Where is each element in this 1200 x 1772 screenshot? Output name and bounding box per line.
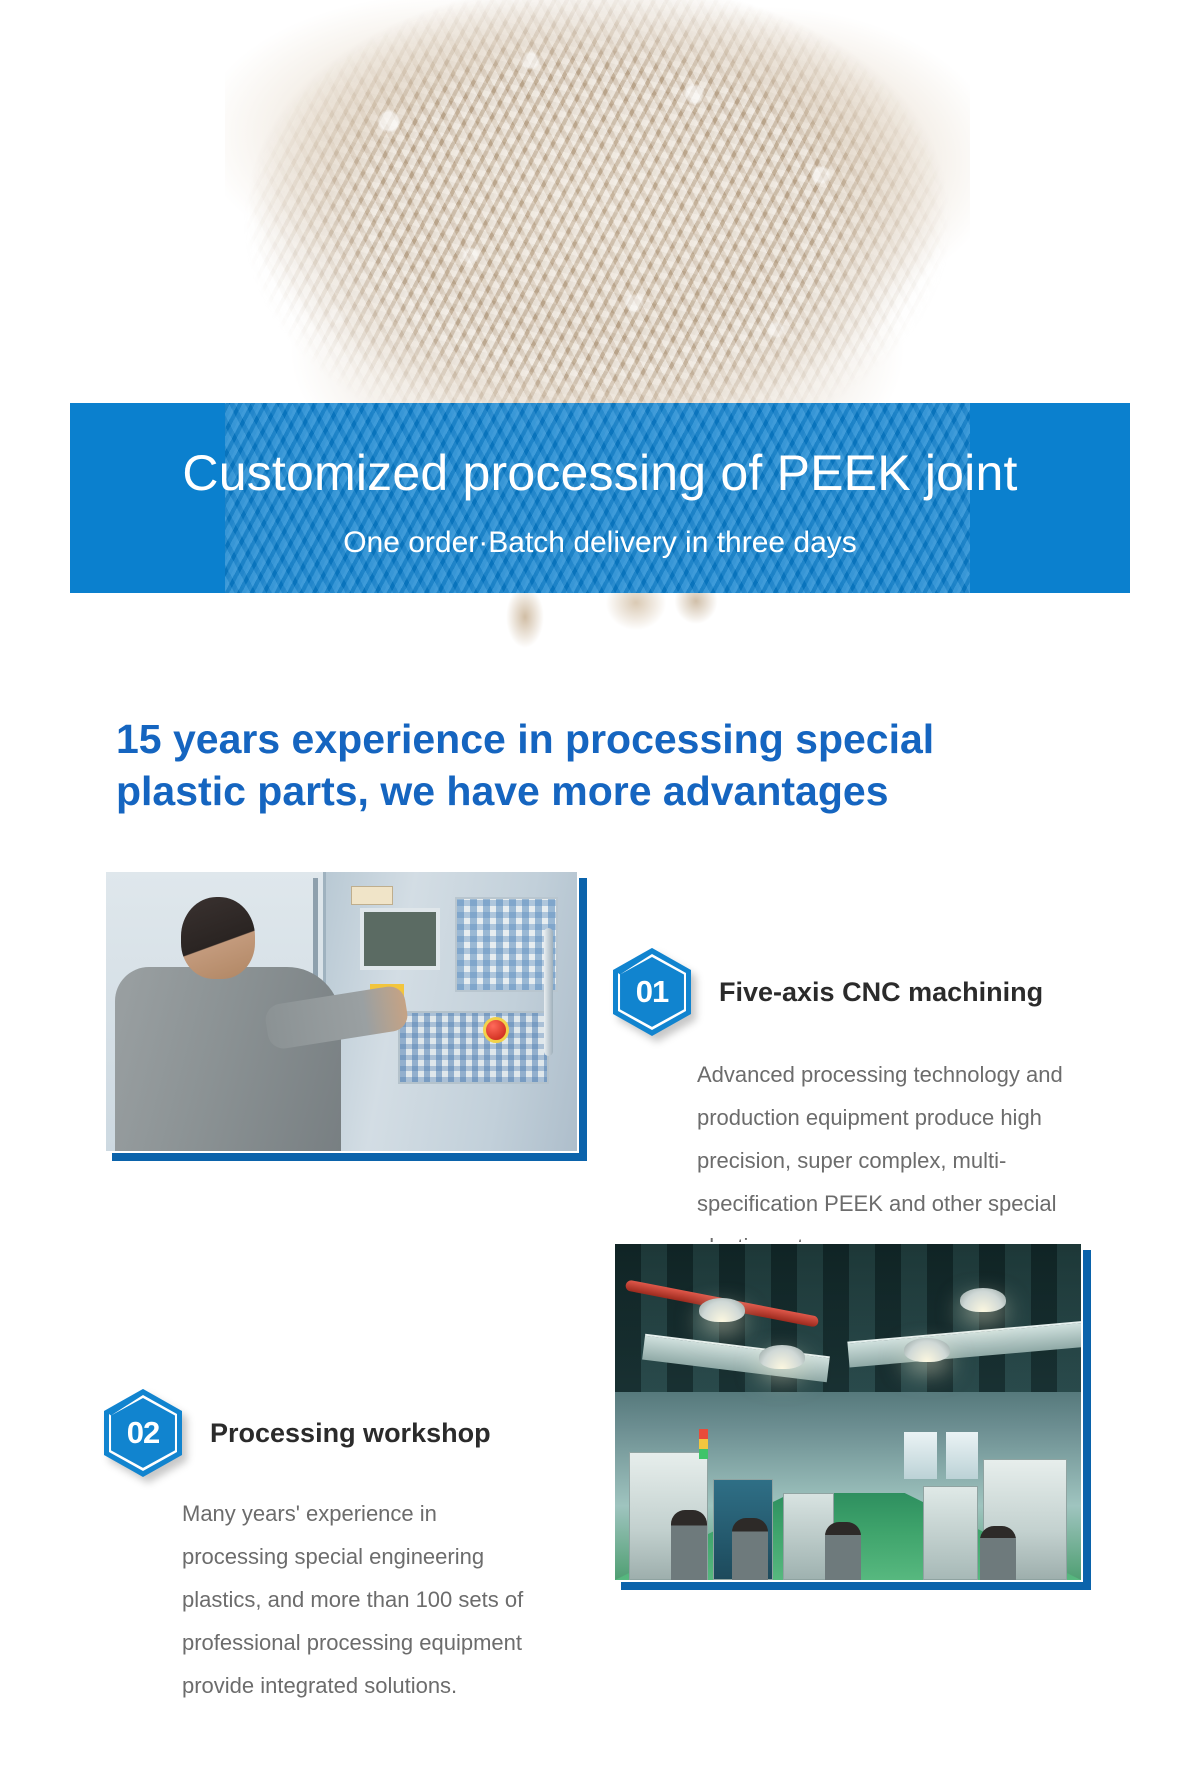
pendant-lamp <box>904 1338 950 1362</box>
section-heading: 15 years experience in processing specia… <box>100 673 1100 818</box>
cnc-keypad-lower <box>398 1011 549 1084</box>
cnc-screen <box>360 908 440 969</box>
pendant-lamp <box>759 1345 805 1369</box>
feature-01-text: 01 Five-axis CNC machining Advanced proc… <box>613 862 1083 1268</box>
workshop-photo-frame <box>613 1242 1083 1582</box>
cnc-keypad-upper <box>455 897 559 992</box>
workshop-window <box>904 1432 937 1479</box>
workshop-worker <box>671 1510 707 1580</box>
pendant-lamp <box>960 1288 1006 1312</box>
workshop-photo <box>613 1242 1083 1582</box>
hexagon-badge-icon: 02 <box>104 1389 182 1477</box>
feature-02-title: Processing workshop <box>210 1417 491 1449</box>
workshop-worker <box>980 1526 1016 1580</box>
workshop-ceiling <box>615 1244 1081 1392</box>
emergency-stop-button <box>483 1017 509 1043</box>
feature-02-header: 02 Processing workshop <box>104 1389 574 1477</box>
section-heading-line-1: 15 years experience in processing specia… <box>116 713 1100 765</box>
worker-body <box>115 967 341 1151</box>
machine-signal-tower <box>699 1429 708 1459</box>
peek-fittings-photo-overflow <box>450 593 750 673</box>
feature-02-text: 02 Processing workshop Many years' exper… <box>104 1389 574 1707</box>
workshop-worker <box>825 1522 861 1580</box>
worker-head <box>181 897 255 979</box>
section-heading-line-2: plastic parts, we have more advantages <box>116 765 1100 817</box>
pendant-lamp <box>699 1298 745 1322</box>
cnc-machining-photo-frame <box>104 870 579 1153</box>
hero-title: Customized processing of PEEK joint <box>70 403 1130 498</box>
feature-01-header: 01 Five-axis CNC machining <box>613 862 1083 1036</box>
workshop-window <box>946 1432 979 1479</box>
hero-banner: Customized processing of PEEK joint One … <box>70 0 1130 673</box>
hero-subtitle: One order·Batch delivery in three days <box>70 498 1130 558</box>
workshop-worker <box>732 1518 768 1580</box>
hero-title-band: Customized processing of PEEK joint One … <box>70 403 1130 593</box>
feature-block-02: 02 Processing workshop Many years' exper… <box>70 1234 1130 1654</box>
feature-block-01: 01 Five-axis CNC machining Advanced proc… <box>70 862 1130 1192</box>
feature-02-body: Many years' experience in processing spe… <box>104 1493 574 1707</box>
feature-01-title: Five-axis CNC machining <box>719 976 1043 1008</box>
hexagon-badge-icon: 01 <box>613 948 691 1036</box>
warning-sticker <box>351 886 393 906</box>
cnc-operator-photo <box>104 870 579 1153</box>
feature-number: 01 <box>613 948 691 1036</box>
feature-number: 02 <box>104 1389 182 1477</box>
cabinet-handle <box>544 928 553 1056</box>
cnc-machine <box>923 1486 979 1580</box>
